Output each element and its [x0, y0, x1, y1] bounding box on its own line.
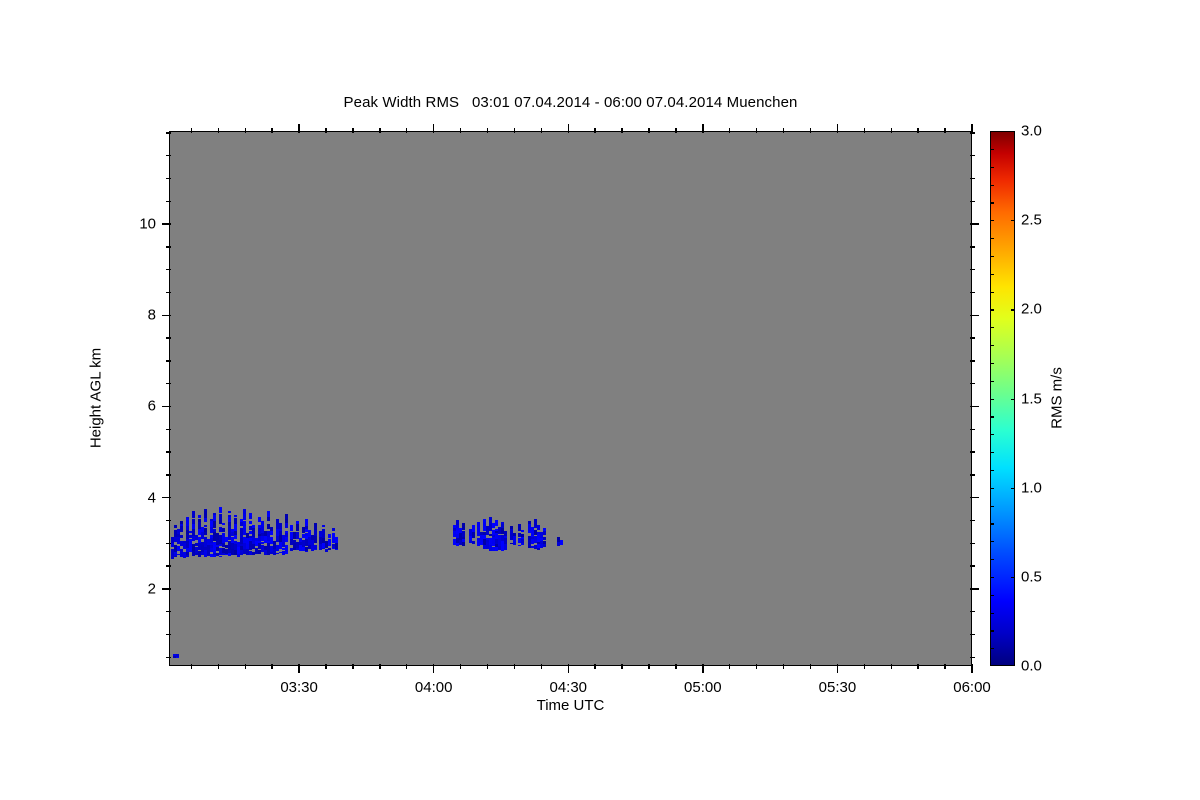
x-tick-mark	[352, 664, 353, 669]
figure-canvas: Peak Width RMS 03:01 07.04.2014 - 06:00 …	[0, 0, 1200, 800]
y-tick-mark	[166, 178, 171, 179]
y-tick-mark	[166, 155, 171, 156]
y-tick-label: 2	[148, 580, 156, 597]
y-tick-mark	[166, 474, 171, 475]
x-tick-mark	[218, 664, 219, 669]
y-tick-mark	[166, 360, 171, 361]
x-tick-mark	[433, 124, 434, 133]
y-tick-mark	[970, 406, 979, 407]
colorbar-tick-label: 0.5	[1021, 568, 1042, 585]
y-tick-mark	[166, 132, 171, 133]
x-tick-label: 05:00	[684, 679, 722, 696]
x-tick-mark	[702, 664, 703, 673]
x-tick-mark	[837, 664, 838, 673]
x-tick-mark	[406, 128, 407, 133]
colorbar-minor-tick	[991, 577, 994, 578]
colorbar-tick-label: 3.0	[1021, 123, 1042, 140]
colorbar-minor-tick	[991, 167, 994, 168]
heatmap-pixels	[170, 132, 972, 666]
heatmap-data-layer	[170, 132, 971, 665]
colorbar-minor-tick	[991, 595, 994, 596]
x-tick-mark	[541, 664, 542, 669]
x-tick-label: 06:00	[953, 679, 991, 696]
x-tick-mark	[487, 664, 488, 669]
y-tick-mark	[166, 543, 171, 544]
y-tick-mark	[970, 474, 975, 475]
x-tick-mark	[271, 664, 272, 669]
colorbar-minor-tick	[991, 149, 994, 150]
x-tick-mark	[891, 664, 892, 669]
colorbar-minor-tick	[991, 613, 994, 614]
x-axis-label: Time UTC	[169, 697, 972, 714]
x-tick-mark	[514, 128, 515, 133]
y-tick-label: 4	[148, 489, 156, 506]
x-tick-mark	[702, 124, 703, 133]
colorbar-minor-tick	[991, 630, 994, 631]
y-tick-mark	[970, 634, 975, 635]
x-tick-mark	[594, 664, 595, 669]
y-tick-mark	[970, 543, 975, 544]
x-tick-mark	[944, 128, 945, 133]
y-tick-mark	[970, 292, 975, 293]
colorbar-minor-tick	[991, 309, 994, 310]
x-tick-mark	[837, 124, 838, 133]
colorbar-major-tick	[1011, 665, 1015, 666]
y-tick-mark	[970, 315, 979, 316]
y-tick-mark	[166, 246, 171, 247]
x-tick-mark	[541, 128, 542, 133]
x-tick-mark	[810, 664, 811, 669]
x-tick-mark	[810, 128, 811, 133]
x-tick-mark	[352, 128, 353, 133]
colorbar-minor-tick	[991, 238, 994, 239]
colorbar-minor-tick	[991, 274, 994, 275]
colorbar-major-tick	[1011, 399, 1015, 400]
x-tick-label: 03:30	[280, 679, 318, 696]
x-tick-mark	[864, 128, 865, 133]
x-tick-mark	[621, 128, 622, 133]
x-tick-mark	[594, 128, 595, 133]
colorbar-minor-tick	[991, 559, 994, 560]
y-tick-mark	[166, 337, 171, 338]
colorbar-major-tick	[1011, 488, 1015, 489]
y-tick-mark	[166, 429, 171, 430]
y-tick-mark	[166, 383, 171, 384]
y-tick-mark	[162, 497, 171, 498]
y-tick-mark	[166, 611, 171, 612]
x-tick-mark	[944, 664, 945, 669]
colorbar-tick-label: 2.5	[1021, 212, 1042, 229]
x-tick-mark	[191, 128, 192, 133]
y-tick-mark	[970, 360, 975, 361]
colorbar-major-tick	[1011, 220, 1015, 221]
colorbar-tick-label: 1.0	[1021, 479, 1042, 496]
colorbar-tick-label: 2.0	[1021, 301, 1042, 318]
x-tick-mark	[298, 664, 299, 673]
colorbar-minor-tick	[991, 506, 994, 507]
y-tick-label: 8	[148, 307, 156, 324]
x-tick-mark	[460, 664, 461, 669]
colorbar-minor-tick	[991, 202, 994, 203]
y-tick-mark	[166, 451, 171, 452]
colorbar-minor-tick	[991, 292, 994, 293]
x-tick-mark	[325, 664, 326, 669]
y-tick-mark	[970, 201, 975, 202]
page-title: Peak Width RMS 03:01 07.04.2014 - 06:00 …	[169, 94, 972, 111]
y-tick-mark	[970, 451, 975, 452]
colorbar-minor-tick	[991, 256, 994, 257]
colorbar-minor-tick	[991, 185, 994, 186]
y-tick-mark	[970, 246, 975, 247]
colorbar-minor-tick	[991, 220, 994, 221]
y-tick-mark	[970, 657, 975, 658]
x-tick-mark	[675, 664, 676, 669]
x-tick-mark	[245, 128, 246, 133]
x-tick-mark	[917, 664, 918, 669]
colorbar-minor-tick	[991, 434, 994, 435]
x-tick-mark	[218, 128, 219, 133]
y-axis-label: Height AGL km	[88, 348, 105, 448]
y-tick-mark	[970, 611, 975, 612]
y-tick-mark	[162, 315, 171, 316]
x-tick-mark	[621, 664, 622, 669]
y-tick-mark	[970, 429, 975, 430]
colorbar[interactable]: 0.00.51.01.52.02.53.0	[990, 131, 1015, 666]
colorbar-minor-tick	[991, 381, 994, 382]
x-tick-mark	[891, 128, 892, 133]
x-tick-mark	[487, 128, 488, 133]
x-tick-mark	[298, 124, 299, 133]
y-tick-mark	[166, 269, 171, 270]
x-tick-mark	[568, 664, 569, 673]
x-tick-mark	[379, 664, 380, 669]
colorbar-minor-tick	[991, 470, 994, 471]
x-tick-mark	[325, 128, 326, 133]
x-tick-mark	[648, 128, 649, 133]
x-tick-mark	[514, 664, 515, 669]
x-tick-mark	[756, 128, 757, 133]
colorbar-minor-tick	[991, 523, 994, 524]
y-tick-label: 10	[139, 216, 156, 233]
y-tick-mark	[162, 406, 171, 407]
x-tick-mark	[756, 664, 757, 669]
colorbar-major-tick	[1011, 309, 1015, 310]
y-tick-mark	[970, 269, 975, 270]
y-tick-mark	[970, 497, 979, 498]
x-tick-mark	[406, 664, 407, 669]
y-tick-mark	[166, 565, 171, 566]
colorbar-major-tick	[1011, 577, 1015, 578]
y-tick-mark	[970, 383, 975, 384]
x-tick-mark	[917, 128, 918, 133]
x-tick-mark	[379, 128, 380, 133]
x-tick-mark	[783, 128, 784, 133]
y-tick-mark	[166, 292, 171, 293]
x-tick-mark	[783, 664, 784, 669]
y-tick-mark	[166, 520, 171, 521]
colorbar-minor-tick	[991, 416, 994, 417]
y-tick-mark	[166, 657, 171, 658]
x-tick-mark	[460, 128, 461, 133]
x-tick-mark	[191, 664, 192, 669]
x-tick-label: 04:30	[549, 679, 587, 696]
x-tick-label: 05:30	[819, 679, 857, 696]
colorbar-tick-label: 0.0	[1021, 658, 1042, 675]
y-tick-mark	[970, 178, 975, 179]
x-tick-mark	[729, 664, 730, 669]
y-tick-mark	[970, 155, 975, 156]
colorbar-minor-tick	[991, 345, 994, 346]
colorbar-major-tick	[1011, 131, 1015, 132]
colorbar-minor-tick	[991, 648, 994, 649]
x-tick-mark	[433, 664, 434, 673]
y-tick-mark	[970, 520, 975, 521]
x-tick-mark	[271, 128, 272, 133]
colorbar-minor-tick	[991, 452, 994, 453]
y-tick-mark	[166, 634, 171, 635]
y-tick-mark	[970, 565, 975, 566]
plot-area[interactable]	[169, 131, 972, 666]
y-tick-mark	[970, 337, 975, 338]
colorbar-minor-tick	[991, 327, 994, 328]
colorbar-minor-tick	[991, 488, 994, 489]
colorbar-minor-tick	[991, 399, 994, 400]
colorbar-label: RMS m/s	[1049, 367, 1066, 429]
x-tick-mark	[971, 664, 972, 673]
x-tick-mark	[864, 664, 865, 669]
y-tick-mark	[970, 588, 979, 589]
y-tick-mark	[162, 588, 171, 589]
y-tick-mark	[166, 201, 171, 202]
x-tick-mark	[675, 128, 676, 133]
y-tick-mark	[162, 223, 171, 224]
x-tick-label: 04:00	[415, 679, 453, 696]
x-tick-mark	[568, 124, 569, 133]
colorbar-tick-label: 1.5	[1021, 390, 1042, 407]
y-tick-mark	[970, 132, 975, 133]
x-tick-mark	[648, 664, 649, 669]
x-tick-mark	[245, 664, 246, 669]
y-tick-mark	[970, 223, 979, 224]
x-tick-mark	[729, 128, 730, 133]
y-tick-label: 6	[148, 398, 156, 415]
colorbar-minor-tick	[991, 363, 994, 364]
colorbar-minor-tick	[991, 541, 994, 542]
